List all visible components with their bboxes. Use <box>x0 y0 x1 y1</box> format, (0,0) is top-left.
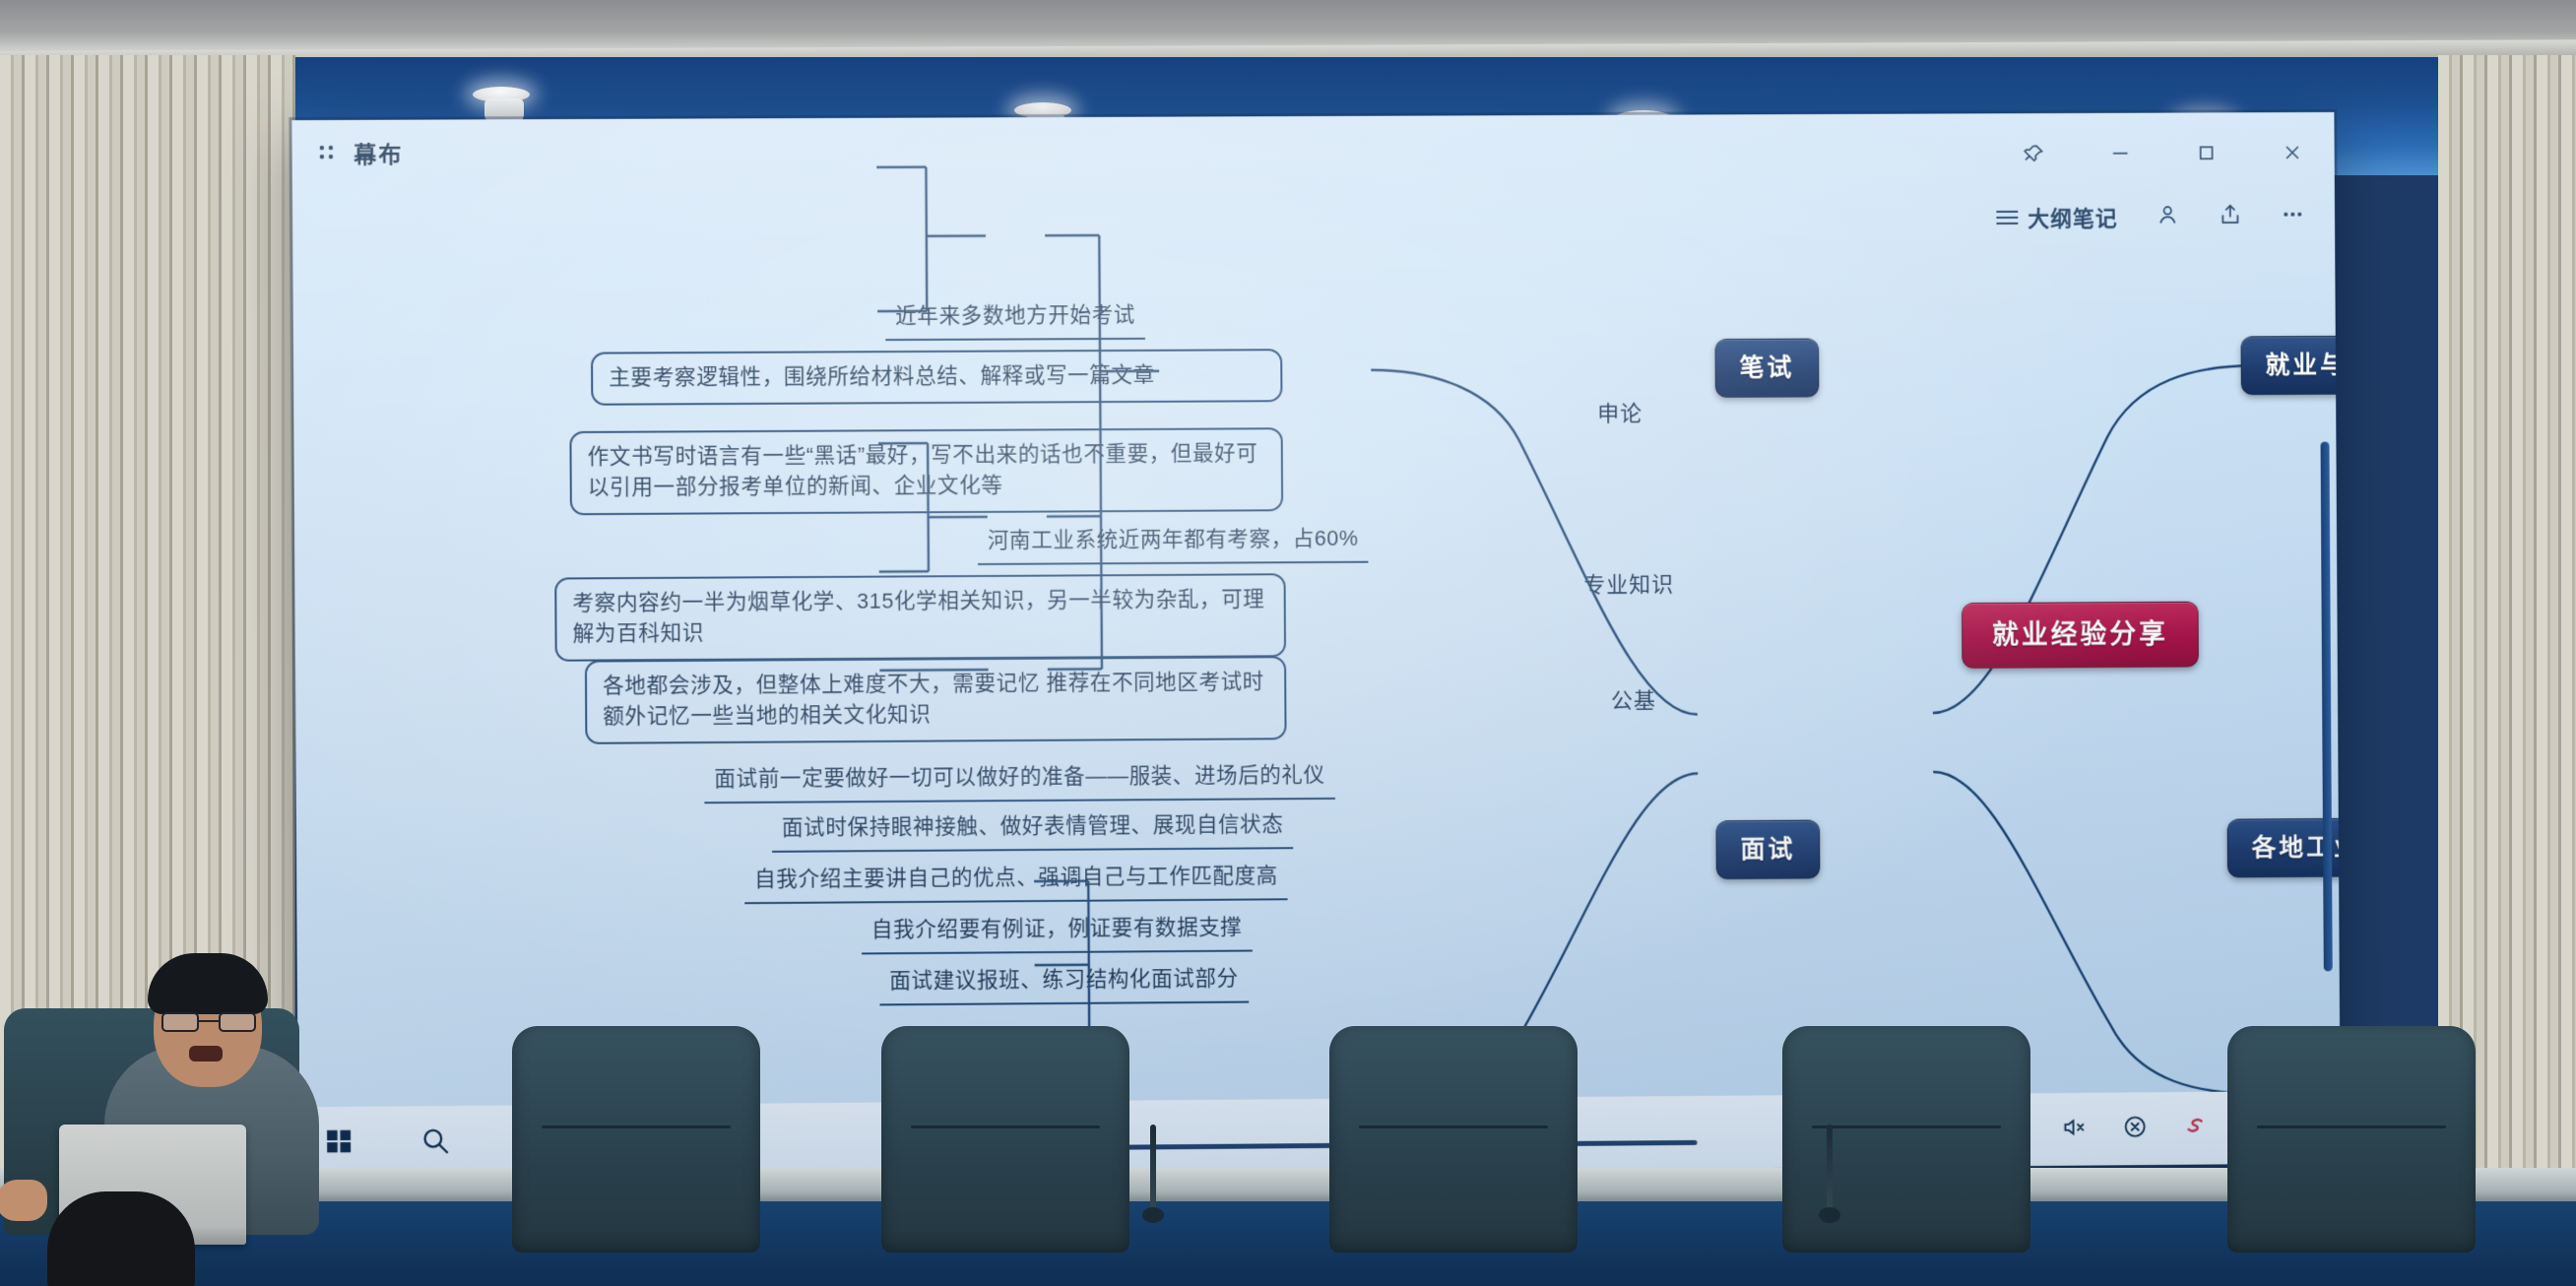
chair <box>2227 1026 2476 1253</box>
microphone <box>1150 1125 1156 1209</box>
branch-node-career-vs-grad[interactable]: 就业与考研的选择 <box>2241 335 2341 395</box>
chair <box>512 1026 760 1253</box>
root-node[interactable]: 就业经验分享 <box>1962 602 2199 669</box>
branch-node-written-exam[interactable]: 笔试 <box>1714 339 1819 399</box>
presenter-person <box>98 939 325 1235</box>
list-item[interactable]: 主要考察逻辑性，围绕所给材料总结、解释或写一篇文章 <box>591 349 1282 406</box>
presenter-glasses <box>161 1012 256 1032</box>
list-item[interactable]: 各地都会涉及，但整体上难度不大，需要记忆 推荐在不同地区考试时额外记忆一些当地的… <box>585 656 1287 744</box>
close-circle-icon[interactable] <box>2121 1113 2149 1145</box>
presenter-hair <box>148 953 268 1014</box>
list-item[interactable]: 面试建议报班、练习结构化面试部分 <box>879 962 1249 1006</box>
chair <box>881 1026 1129 1253</box>
mindmap-canvas[interactable]: 近年来多数地方开始考试 主要考察逻辑性，围绕所给材料总结、解释或写一篇文章 作文… <box>291 112 2340 1181</box>
windows-start-icon[interactable] <box>324 1125 354 1160</box>
projection-screen: 幕布 <box>291 112 2340 1181</box>
chair <box>1329 1026 1578 1253</box>
list-item[interactable]: 自我介绍主要讲自己的优点、强调自己与工作匹配度高 <box>744 859 1288 904</box>
microphone <box>1827 1125 1833 1209</box>
list-item[interactable]: 河南工业系统近两年都有考察，占60% <box>978 522 1369 565</box>
list-item[interactable]: 作文书写时语言有一些“黑话”最好，写不出来的话也不重要，但最好可以引用一部分报考… <box>569 427 1283 515</box>
search-icon[interactable] <box>419 1125 451 1161</box>
sogou-input-icon[interactable] <box>2182 1112 2210 1144</box>
list-item[interactable]: 自我介绍要有例证，例证要有数据支撑 <box>862 911 1253 955</box>
list-item[interactable]: 面试时保持眼神接触、做好表情管理、展现自信状态 <box>772 807 1294 853</box>
volume-muted-icon[interactable] <box>2061 1113 2089 1145</box>
conference-room-photo: 幕布 <box>0 0 2576 1286</box>
audience-head <box>47 1191 195 1286</box>
audience-hand <box>0 1180 47 1221</box>
list-item[interactable]: 考察内容约一半为烟草化学、315化学相关知识，另一半较为杂乱，可理解为百科知识 <box>554 573 1286 662</box>
list-item[interactable]: 面试前一定要做好一切可以做好的准备——服装、进场后的礼仪 <box>704 758 1335 804</box>
category-label[interactable]: 申论 <box>1597 398 1642 429</box>
category-label[interactable]: 公基 <box>1611 685 1656 717</box>
presenter-mouth <box>189 1046 223 1061</box>
table-surface <box>0 1168 2576 1201</box>
category-label[interactable]: 专业知识 <box>1583 569 1674 601</box>
mubu-app-window: 幕布 <box>291 112 2340 1181</box>
list-item[interactable]: 近年来多数地方开始考试 <box>885 298 1145 341</box>
branch-node-interview[interactable]: 面试 <box>1715 820 1820 880</box>
vertical-scrollbar[interactable] <box>2321 442 2333 972</box>
